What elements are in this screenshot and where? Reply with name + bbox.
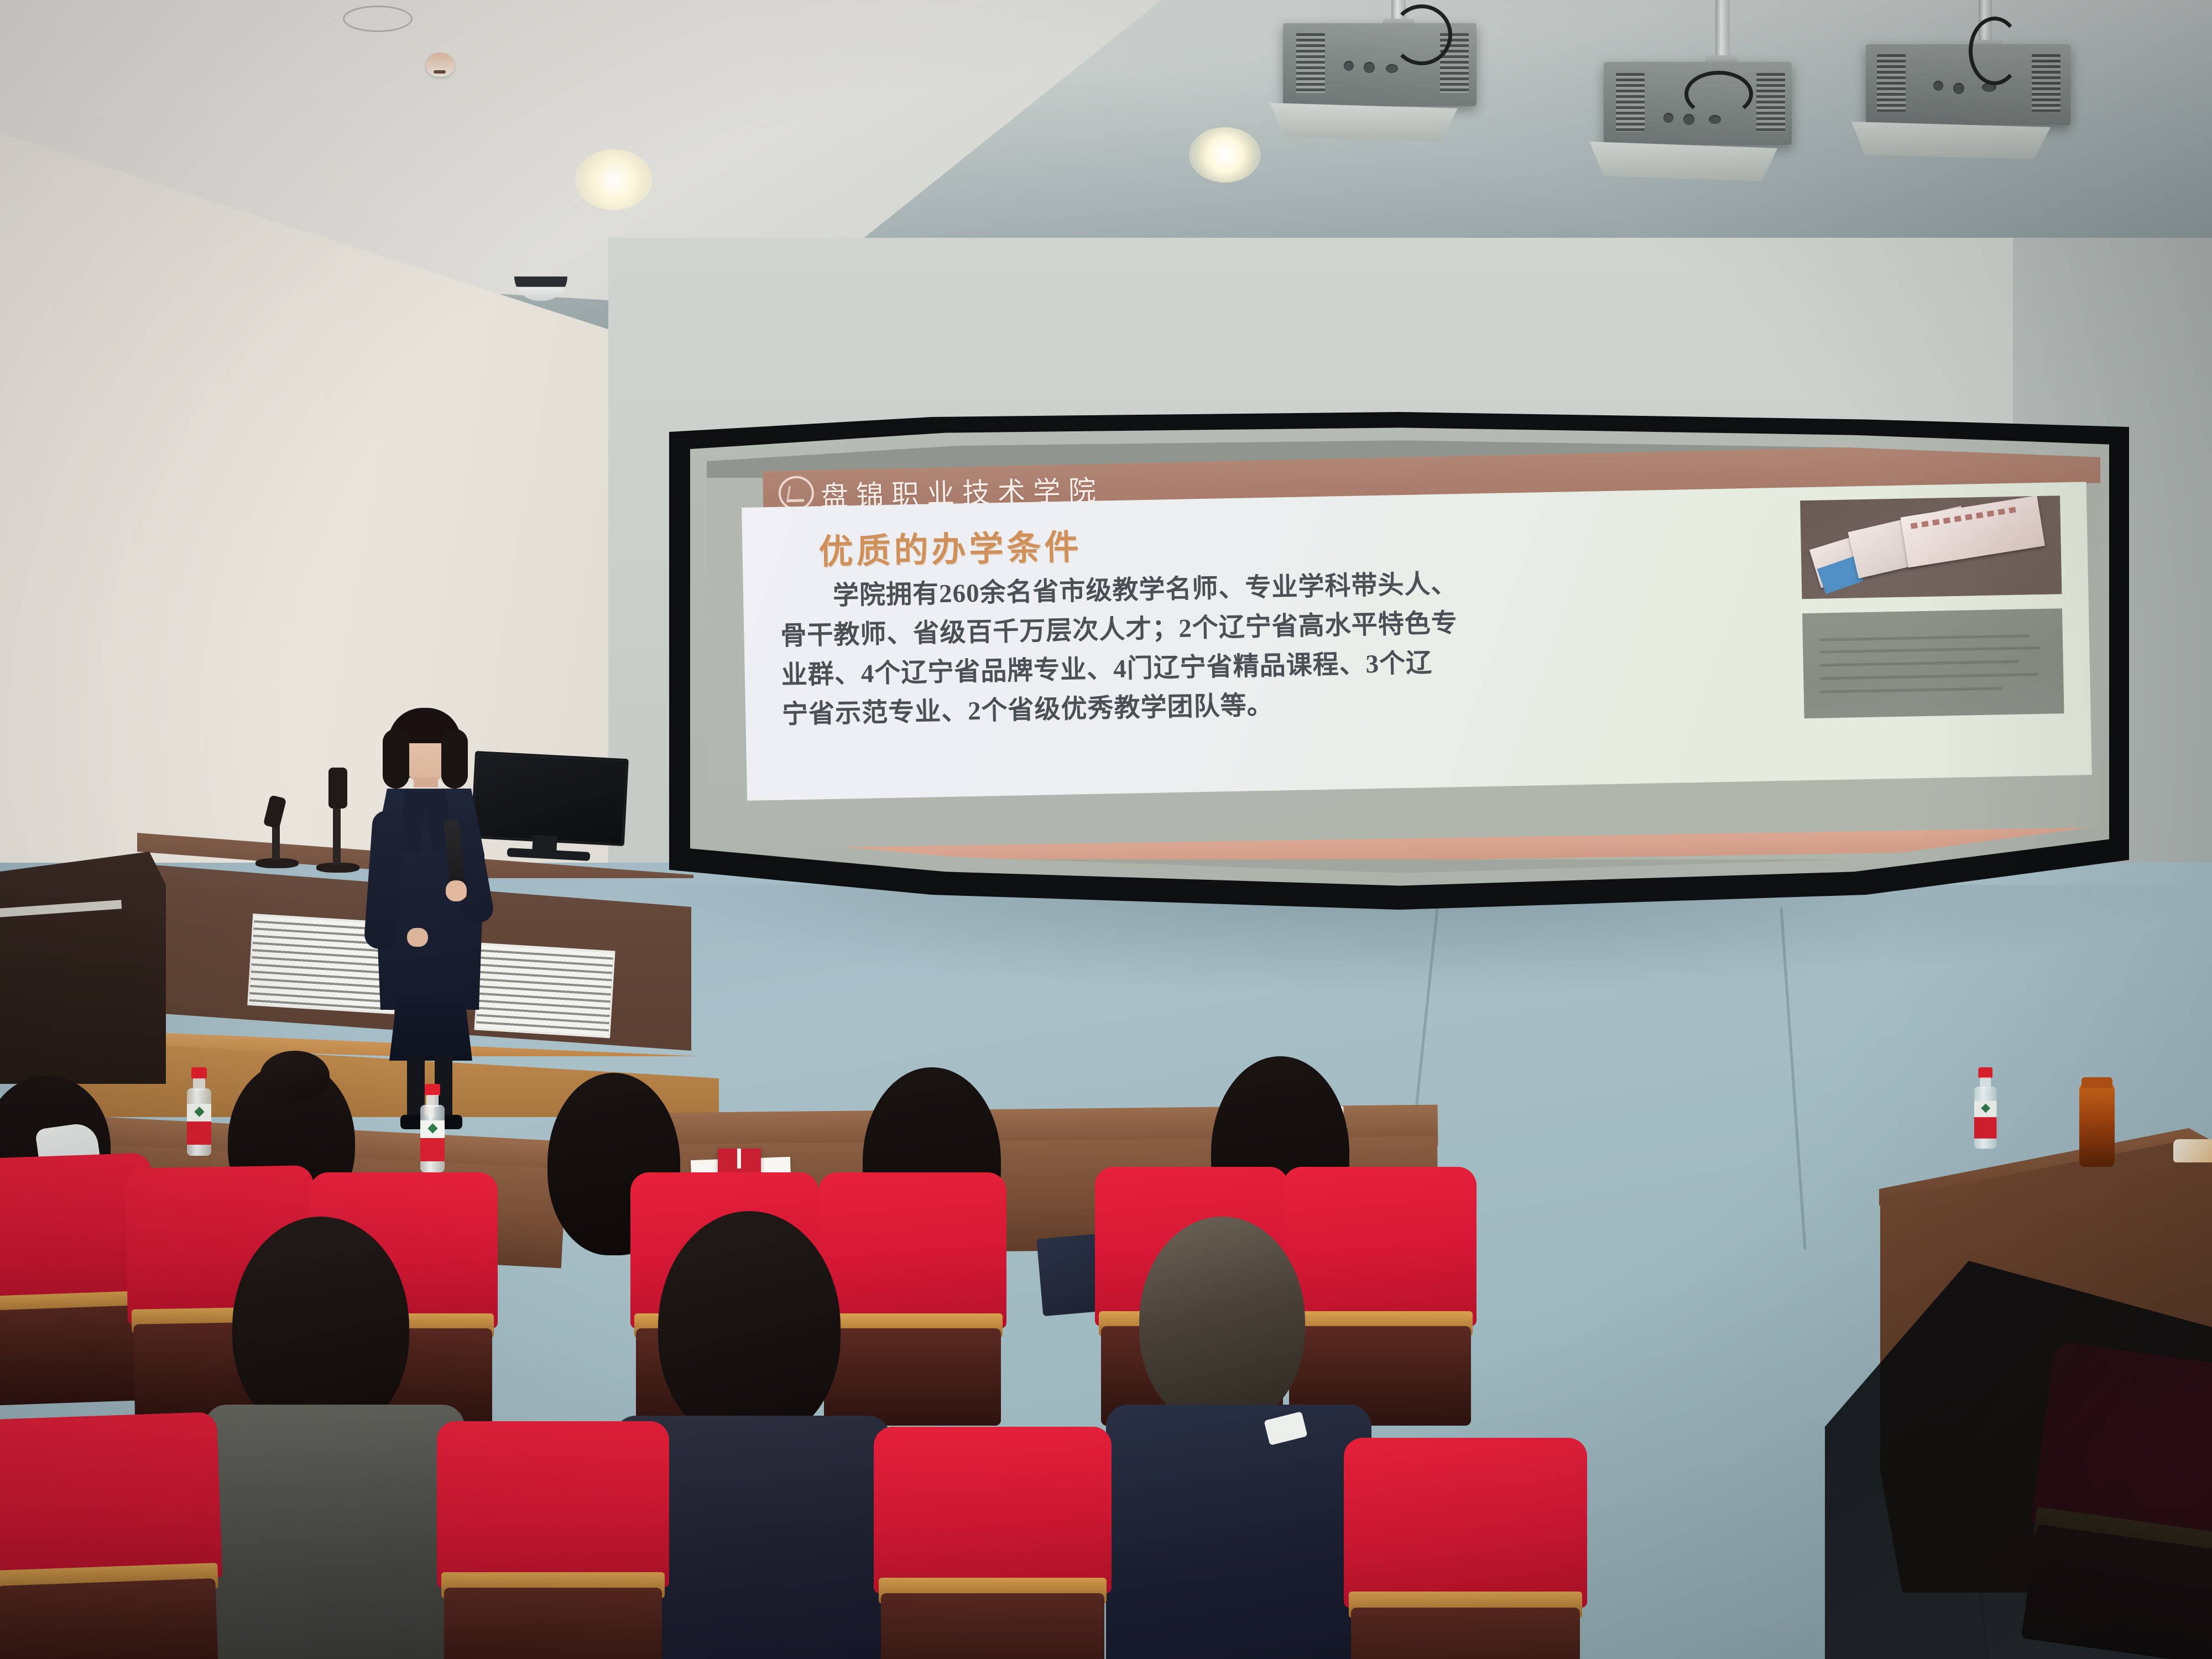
projector-vent-left (1877, 54, 1906, 112)
ceiling-vent-ring-1 (343, 6, 413, 32)
seat-10[interactable] (874, 1427, 1112, 1659)
projector-vent-right (2032, 54, 2060, 112)
ceiling-projector-3 (1841, 0, 2151, 160)
slide-content-area: 优质的办学条件 学院拥有260余名省市级教学名师、专业学科带头人、 骨干教师、省… (742, 482, 2092, 801)
projector-port-3 (1386, 64, 1398, 73)
projector-port-1 (1933, 81, 1943, 91)
seat-8[interactable] (0, 1412, 226, 1659)
projector-cable (1969, 17, 2021, 85)
projector-underside (1589, 142, 1777, 181)
ceiling-projector-2 (1571, 0, 1858, 182)
tea-bottle (2079, 1084, 2115, 1167)
mic-pole (272, 823, 280, 860)
seat-back (444, 1588, 662, 1659)
attendee-gray-hair-man (1139, 1217, 1305, 1427)
certificate-3 (1900, 495, 2044, 567)
projector-cable (1684, 71, 1753, 117)
bottle-cap (1978, 1067, 1992, 1078)
attendee-woman-bun-knot (260, 1051, 330, 1102)
projector-port-2 (1953, 83, 1964, 94)
projector-port-1 (1663, 113, 1673, 123)
slide-body-text: 学院拥有260余名省市级教学名师、专业学科带头人、 骨干教师、省级百千万层次人才… (779, 561, 1656, 734)
gooseneck-mic-right[interactable] (316, 768, 359, 873)
award-certificates-photo (1800, 495, 2062, 599)
gooseneck-mic-left[interactable] (255, 796, 299, 868)
projector-cable (1391, 4, 1452, 65)
mic-head (328, 768, 347, 808)
document-table-photo (1802, 608, 2064, 718)
smoke-detector-icon (426, 53, 455, 77)
attendee-short-hair-center (658, 1211, 841, 1443)
seat-back (824, 1328, 1001, 1426)
bottle-label-red (1974, 1117, 1996, 1139)
projector-port-2 (1683, 114, 1694, 125)
seat-cushion (1344, 1438, 1587, 1608)
seat-11[interactable] (1344, 1438, 1587, 1659)
projector-body (1866, 44, 2070, 125)
projector-port-2 (1364, 62, 1375, 73)
doc-line-3 (1820, 660, 2019, 667)
seat-cushion (818, 1172, 1006, 1328)
seat-cushion (874, 1427, 1112, 1593)
projector-underside (1851, 122, 2051, 159)
lectern (0, 852, 166, 1084)
mic-pole (333, 799, 341, 865)
napkin (2173, 1139, 2212, 1162)
bottle-label-red (420, 1138, 445, 1161)
seat-9[interactable] (437, 1421, 669, 1659)
doc-line-2 (1819, 646, 2041, 654)
projector-mount-rod (1715, 0, 1730, 61)
seat-cushion (1283, 1167, 1477, 1326)
college-seal-logo-icon (778, 476, 814, 510)
mic-head (263, 795, 287, 829)
slide-title: 优质的办学条件 (818, 519, 1083, 573)
presenter-hand-left (407, 928, 428, 947)
presenter-skirt (389, 995, 472, 1061)
bottle-cap (191, 1067, 207, 1079)
seat-cushion (437, 1421, 669, 1588)
presenter-hair-right (441, 729, 468, 789)
lecture-hall-photo: 盘锦职业技术学院 优质的办学条件 学院拥有260余名省市级教学名师、专业学科带头… (0, 0, 2212, 1659)
seat-7[interactable] (1283, 1167, 1477, 1416)
seat-5[interactable] (818, 1172, 1006, 1416)
projector-vent-left (1296, 33, 1325, 93)
projector-port-1 (1344, 61, 1354, 71)
doc-line-4 (1820, 673, 2038, 680)
attendee-gray-hair-man-torso (1106, 1405, 1371, 1659)
downlight-3 (1189, 127, 1261, 182)
doc-line-5 (1820, 687, 2003, 693)
bottle-cap (425, 1084, 440, 1096)
presenter-hair-left (383, 729, 409, 789)
doc-line-1 (1819, 634, 2030, 641)
seat-back (881, 1593, 1104, 1659)
seat-back (0, 1578, 219, 1659)
ceiling-projector-1 (1266, 0, 1554, 171)
bottle-label-red (187, 1121, 211, 1145)
projector-vent-right (1756, 73, 1785, 132)
presenter-hand-right (446, 880, 467, 901)
projector-underside (1270, 103, 1458, 142)
seat-cushion (0, 1412, 222, 1586)
presenter-speaker (354, 708, 509, 1095)
attendee-short-hair-left-torso (205, 1405, 465, 1659)
downlight-2 (575, 149, 653, 210)
projector-vent-left (1616, 73, 1645, 132)
seat-back (1351, 1608, 1580, 1659)
presentation-slide: 盘锦职业技术学院 优质的办学条件 学院拥有260余名省市级教学名师、专业学科带头… (707, 437, 2100, 879)
